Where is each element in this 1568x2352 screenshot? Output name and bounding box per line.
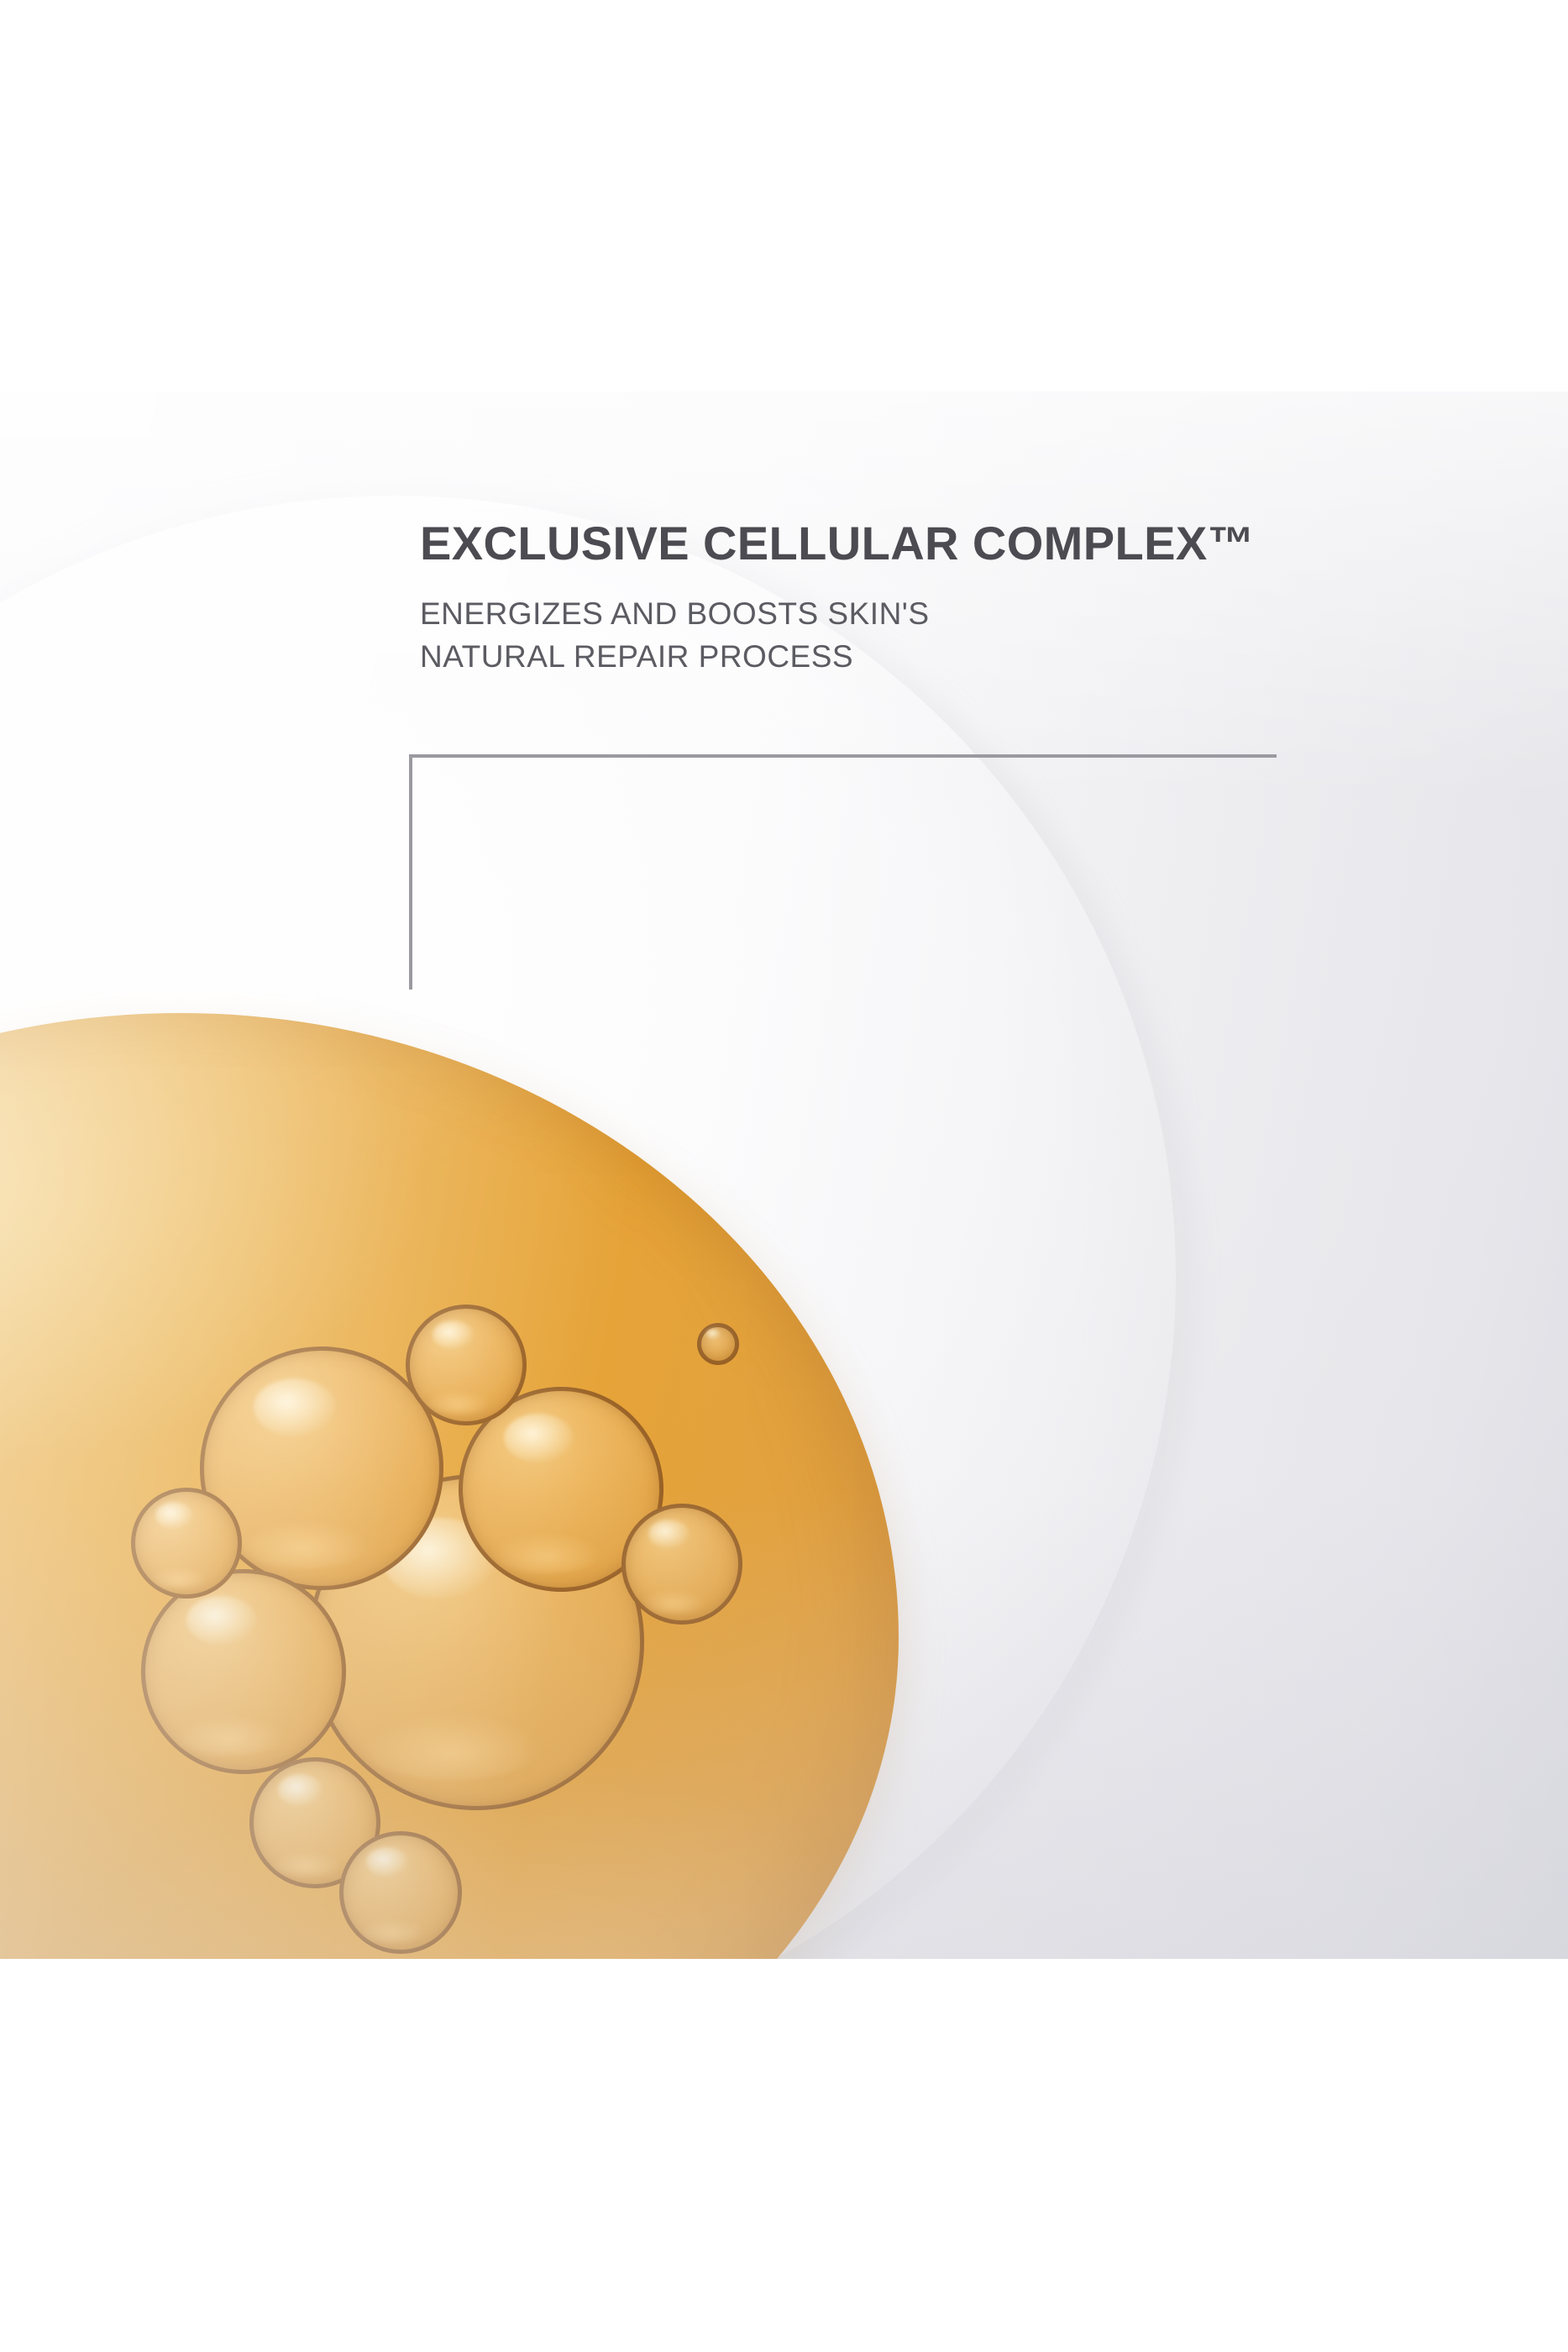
subtitle-line-2: NATURAL REPAIR PROCESS	[420, 636, 1503, 678]
subtitle-line-1: ENERGIZES AND BOOSTS SKIN'S	[420, 593, 1503, 635]
bubble-bounce-light	[362, 1713, 543, 1780]
bubble-specular-highlight	[648, 1520, 690, 1549]
bubble-specular-highlight	[155, 1502, 193, 1529]
page-subtitle: ENERGIZES AND BOOSTS SKIN'S NATURAL REPA…	[420, 593, 1503, 678]
bubble-specular-highlight	[254, 1378, 337, 1437]
bubble-bounce-light	[641, 1589, 706, 1614]
bubble-bounce-light	[149, 1567, 208, 1588]
bubble-bounce-light	[491, 1532, 602, 1573]
bubble-top-small	[406, 1305, 527, 1425]
bubble-bounce-light	[270, 1851, 341, 1877]
bubble-bottom	[339, 1831, 462, 1954]
bubble-bounce-light	[425, 1390, 490, 1415]
bubble-bounce-light	[239, 1520, 370, 1568]
bubble-specular-highlight	[504, 1414, 574, 1463]
product-detail-image: EXCLUSIVE CELLULAR COMPLEX™ ENERGIZES AN…	[0, 0, 1568, 2352]
bubble-bounce-light	[174, 1714, 285, 1756]
bubble-isolated-droplet	[697, 1323, 739, 1365]
bubble-specular-highlight	[366, 1847, 408, 1877]
bubble-left-small	[131, 1488, 242, 1599]
bubble-right-small	[621, 1504, 742, 1625]
page-title: EXCLUSIVE CELLULAR COMPLEX™	[420, 519, 1503, 568]
bubble-bounce-light	[359, 1919, 425, 1943]
bubble-specular-highlight	[433, 1320, 474, 1350]
callout-caption: EXCLUSIVE CELLULAR COMPLEX™ ENERGIZES AN…	[420, 519, 1503, 678]
bubble-specular-highlight	[706, 1329, 721, 1339]
bubble-specular-highlight	[186, 1596, 256, 1646]
bubble-medium-left	[141, 1569, 346, 1774]
bubble-specular-highlight	[278, 1774, 323, 1805]
